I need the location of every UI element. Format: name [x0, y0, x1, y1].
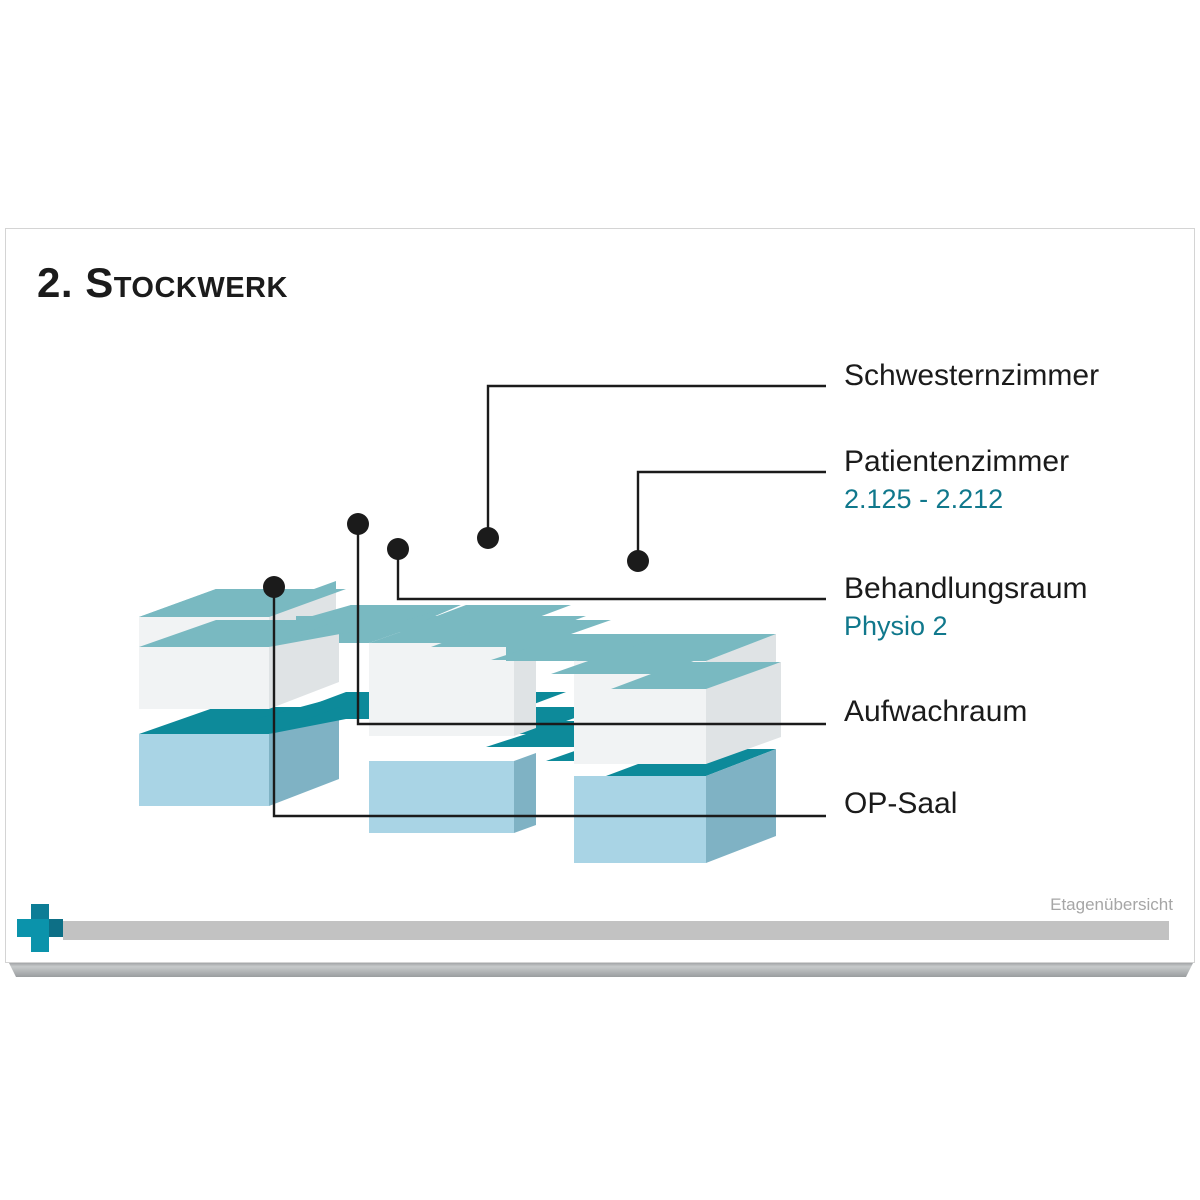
footer-caption[interactable]: Etagenübersicht — [1050, 895, 1173, 915]
callout-label-patientenzimmer[interactable]: Patientenzimmer 2.125 - 2.212 — [844, 445, 1069, 515]
leader-behandlungsraum — [398, 549, 826, 599]
callout-label-text: Aufwachraum — [844, 695, 1027, 729]
dot-behandlungsraum — [387, 538, 409, 560]
callout-dots[interactable] — [263, 513, 649, 598]
page-title: 2. Stockwerk — [37, 259, 288, 307]
card-plinth — [8, 961, 1194, 979]
dot-aufwachraum — [347, 513, 369, 535]
footer-progress-bar[interactable] — [63, 921, 1169, 940]
callout-label-op-saal[interactable]: OP-Saal — [844, 787, 957, 821]
slide-card: 2. Stockwerk Schwesternzimmer Patientenz… — [5, 228, 1195, 963]
callout-label-schwesternzimmer[interactable]: Schwesternzimmer — [844, 359, 1099, 393]
slide-stage: 2. Stockwerk Schwesternzimmer Patientenz… — [0, 0, 1200, 1200]
callout-label-subtext: 2.125 - 2.212 — [844, 483, 1069, 515]
callout-label-text: Schwesternzimmer — [844, 359, 1099, 393]
dot-op-saal — [263, 576, 285, 598]
callout-label-text: Patientenzimmer — [844, 445, 1069, 479]
callout-label-subtext: Physio 2 — [844, 610, 1088, 642]
leader-schwesternzimmer — [488, 386, 826, 538]
callout-label-text: Behandlungsraum — [844, 572, 1088, 606]
callout-label-behandlungsraum[interactable]: Behandlungsraum Physio 2 — [844, 572, 1088, 642]
dot-schwesternzimmer — [477, 527, 499, 549]
callout-label-text: OP-Saal — [844, 787, 957, 821]
leader-patientenzimmer — [638, 472, 826, 561]
dot-patientenzimmer — [627, 550, 649, 572]
medical-cross-icon[interactable] — [17, 904, 63, 952]
callout-label-aufwachraum[interactable]: Aufwachraum — [844, 695, 1027, 729]
